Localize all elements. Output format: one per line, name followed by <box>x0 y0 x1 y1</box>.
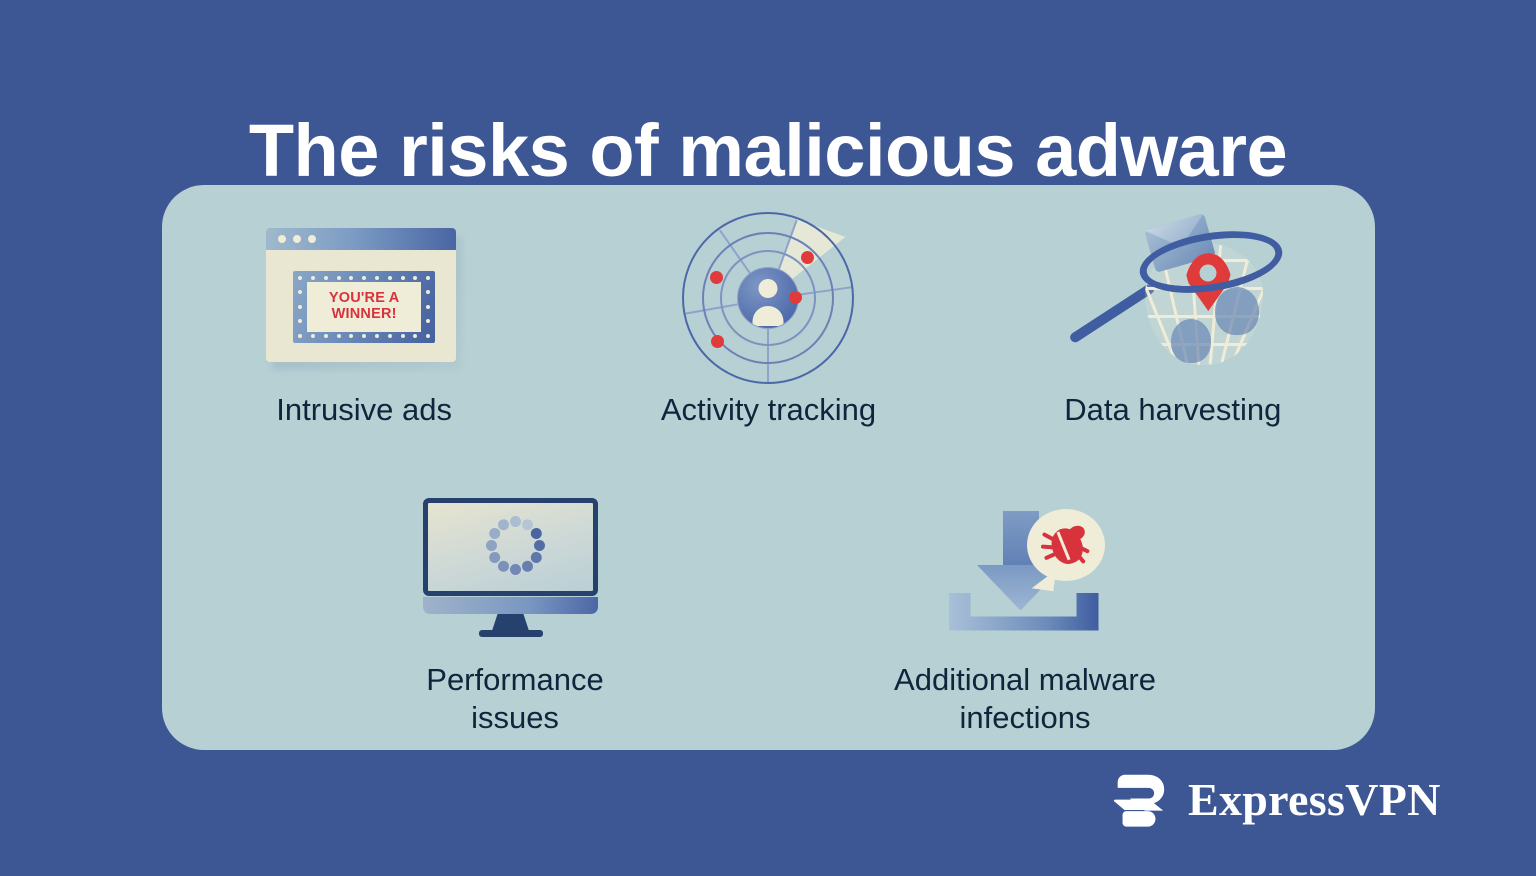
risk-item-performance-issues: Performance issues <box>350 480 680 737</box>
browser-titlebar <box>266 228 456 250</box>
expressvpn-logo[interactable]: ExpressVPN <box>1108 768 1441 830</box>
person-body-icon <box>753 306 784 326</box>
ad-banner-inner: YOU'RE A WINNER! <box>307 282 421 332</box>
radar-blip-icon <box>789 291 802 304</box>
net-data-harvest-icon <box>1048 210 1298 385</box>
risks-row-bottom: Performance issues <box>260 480 1280 737</box>
person-head-icon <box>759 279 778 298</box>
expressvpn-wordmark: ExpressVPN <box>1188 773 1441 826</box>
risk-item-malware-infections: Additional malware infections <box>860 480 1190 737</box>
monitor-base <box>423 597 598 614</box>
monitor-foot <box>479 630 543 637</box>
browser-dot-icon <box>308 235 316 243</box>
ad-banner-text: YOU'RE A WINNER! <box>329 291 400 322</box>
risk-label-performance-issues: Performance issues <box>426 661 603 737</box>
browser-dot-icon <box>278 235 286 243</box>
browser-ad-window-icon: YOU'RE A WINNER! <box>239 210 489 385</box>
monitor-loading-spinner-icon <box>390 480 640 655</box>
captured-data-blob <box>1171 319 1211 363</box>
risk-item-data-harvesting: Data harvesting <box>1008 210 1338 429</box>
risk-item-intrusive-ads: YOU'RE A WINNER! Intrusive ads <box>199 210 529 429</box>
radar-blip-icon <box>801 251 814 264</box>
risk-item-activity-tracking: Activity tracking <box>603 210 933 429</box>
radar-blip-icon <box>711 335 724 348</box>
infographic-page: The risks of malicious adware <box>0 0 1536 876</box>
page-title: The risks of malicious adware <box>0 112 1536 190</box>
download-malware-bug-icon <box>900 480 1150 655</box>
radar-blip-icon <box>710 271 723 284</box>
risks-row-top: YOU'RE A WINNER! Intrusive ads <box>162 210 1375 429</box>
risk-label-intrusive-ads: Intrusive ads <box>276 391 452 429</box>
bug-leg <box>1040 544 1054 548</box>
risk-label-malware-infections: Additional malware infections <box>894 661 1156 737</box>
loading-spinner-icon <box>485 516 545 576</box>
browser-dot-icon <box>293 235 301 243</box>
radar-tracking-icon <box>643 210 893 385</box>
bug-leg <box>1043 551 1056 559</box>
net-handle <box>1068 282 1156 344</box>
bug-icon <box>1043 523 1089 567</box>
ad-banner-frame: YOU'RE A WINNER! <box>293 271 435 343</box>
speech-bubble <box>1027 509 1105 581</box>
risk-label-data-harvesting: Data harvesting <box>1064 391 1281 429</box>
expressvpn-e-logo-icon <box>1108 768 1170 830</box>
risk-label-activity-tracking: Activity tracking <box>661 391 876 429</box>
